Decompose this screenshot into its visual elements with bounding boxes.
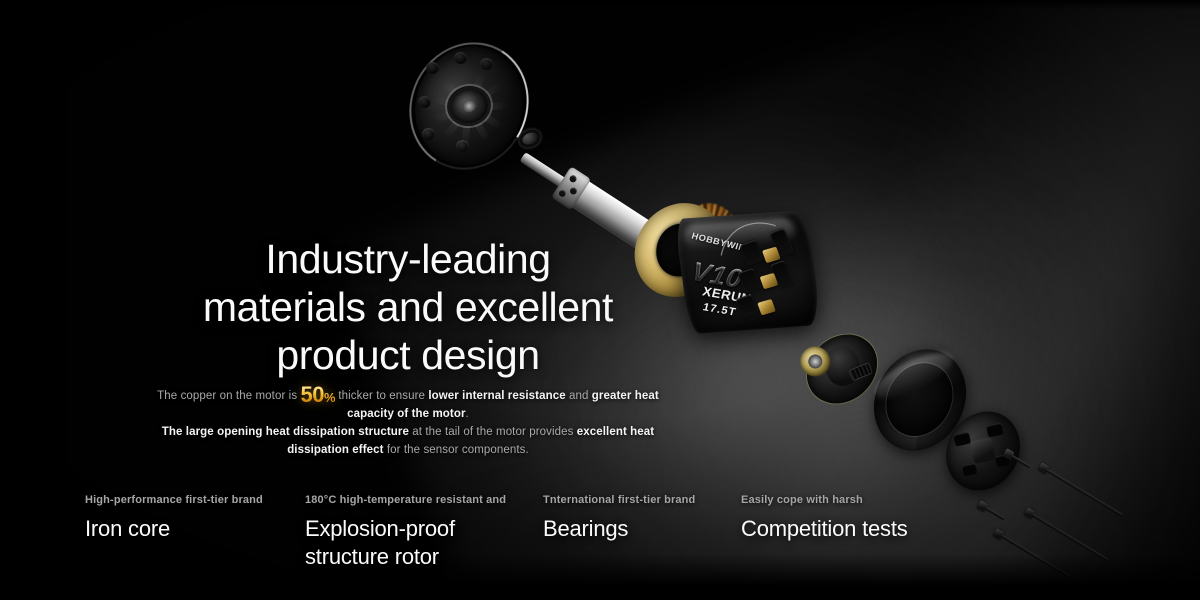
- feature-title: Competition tests: [741, 515, 908, 543]
- feature-list: High-performance first-tier brand Iron c…: [0, 494, 1200, 594]
- body-seg-5: at the tail of the motor provides: [409, 426, 577, 438]
- percent-highlight: 50%: [300, 386, 335, 404]
- feature-kicker: Tnternational first-tier brand: [543, 494, 695, 506]
- feature-kicker: 180°C high-temperature resistant and: [305, 494, 510, 506]
- headline-line-3: product design: [148, 332, 668, 380]
- body-seg-6: for the sensor components.: [384, 444, 529, 456]
- body-seg-3: and: [566, 390, 592, 402]
- feature-item-competition: Easily cope with harsh Competition tests: [741, 494, 908, 543]
- body-seg-1: The copper on the motor is: [157, 390, 300, 402]
- body-seg-4: .: [466, 408, 469, 420]
- page-title: Industry-leading materials and excellent…: [148, 236, 668, 380]
- headline-line-1: Industry-leading: [148, 236, 668, 284]
- body-seg-2: thicker to ensure: [335, 390, 428, 402]
- feature-kicker: Easily cope with harsh: [741, 494, 908, 506]
- percent-number: 50: [300, 382, 323, 407]
- feature-title: Bearings: [543, 515, 695, 543]
- feature-title: Explosion-proof structure rotor: [305, 515, 510, 571]
- body-copy: The copper on the motor is 50% thicker t…: [148, 386, 668, 460]
- headline-line-2: materials and excellent: [148, 284, 668, 332]
- feature-title: Iron core: [85, 515, 263, 543]
- feature-kicker: High-performance first-tier brand: [85, 494, 263, 506]
- product-banner: HOBBYWING V10 XERUN 17.5T: [0, 0, 1200, 600]
- percent-symbol: %: [324, 390, 335, 405]
- body-bold-1: lower internal resistance: [428, 390, 565, 402]
- body-bold-3: The large opening heat dissipation struc…: [162, 426, 409, 438]
- top-edge-fade: [0, 0, 1200, 10]
- feature-item-iron-core: High-performance first-tier brand Iron c…: [85, 494, 263, 543]
- feature-item-bearings: Tnternational first-tier brand Bearings: [543, 494, 695, 543]
- feature-item-rotor: 180°C high-temperature resistant and Exp…: [305, 494, 510, 571]
